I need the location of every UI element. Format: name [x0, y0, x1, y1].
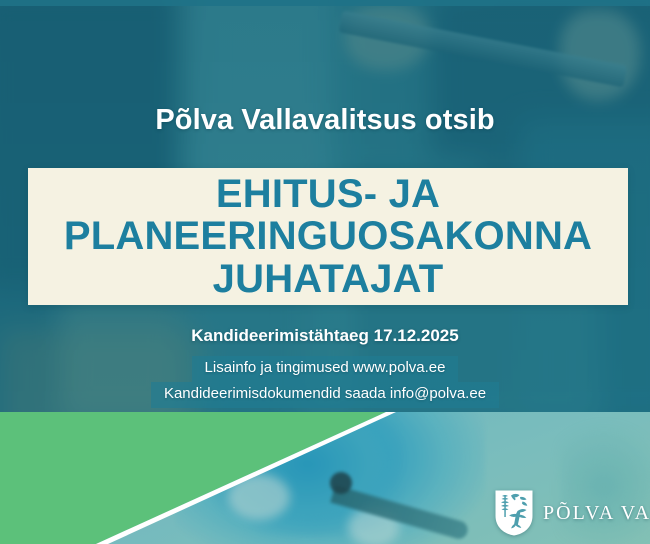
polva-coat-of-arms-icon [494, 489, 534, 537]
info-block: Lisainfo ja tingimused www.polva.ee Kand… [0, 356, 650, 408]
job-title-line-2: PLANEERINGUOSAKONNA [64, 215, 592, 257]
job-title-line-3: JUHATAJAT [64, 258, 592, 300]
kicker-heading: Põlva Vallavalitsus otsib [0, 104, 650, 137]
polva-vald-logo: PÕLVA VALD [494, 489, 650, 537]
job-title-box: EHITUS- JA PLANEERINGUOSAKONNA JUHATAJAT [28, 168, 628, 305]
job-title: EHITUS- JA PLANEERINGUOSAKONNA JUHATAJAT [54, 173, 602, 300]
job-advert-poster: Põlva Vallavalitsus otsib EHITUS- JA PLA… [0, 0, 650, 544]
application-deadline: Kandideerimistähtaeg 17.12.2025 [0, 326, 650, 346]
info-line-website: Lisainfo ja tingimused www.polva.ee [192, 356, 459, 382]
top-edge-strip [0, 0, 650, 6]
info-line-email: Kandideerimisdokumendid saada info@polva… [151, 382, 499, 408]
job-title-line-1: EHITUS- JA [64, 173, 592, 215]
logo-wordmark: PÕLVA VALD [543, 502, 650, 525]
